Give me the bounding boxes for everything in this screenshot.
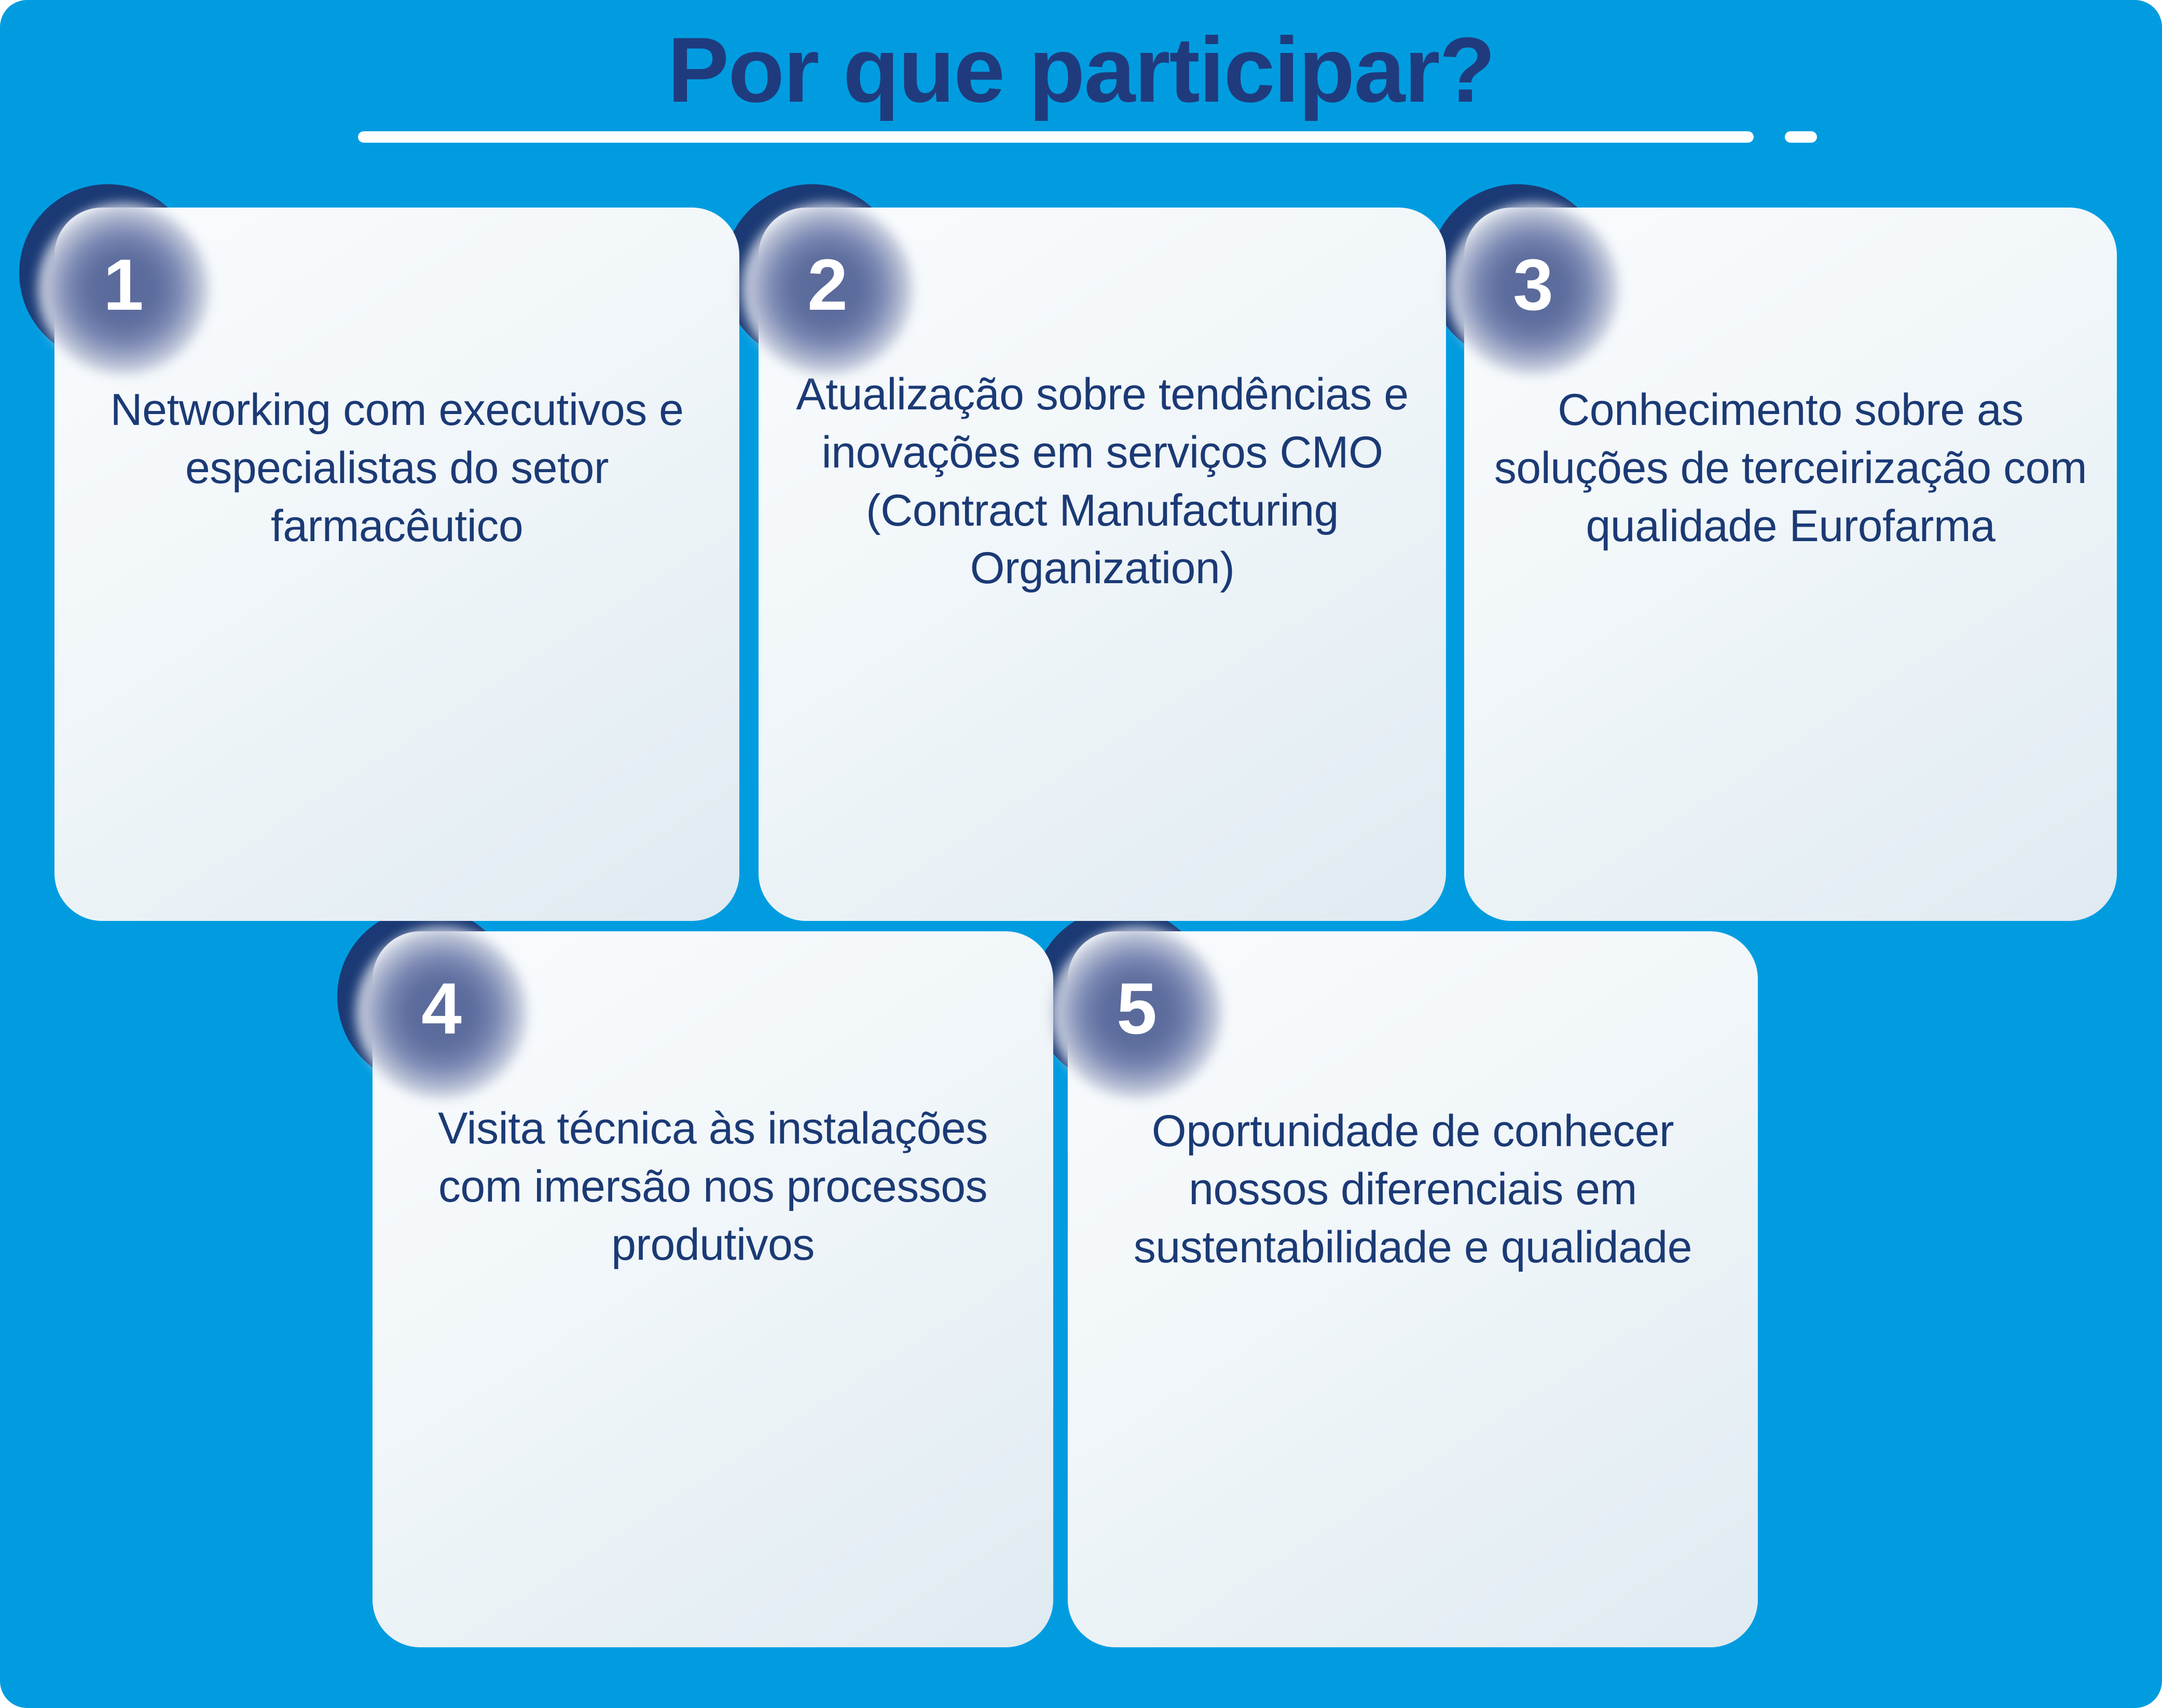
page-title: Por que participar? xyxy=(0,22,2162,119)
badge-number-5: 5 xyxy=(1051,927,1222,1098)
benefit-card-2[interactable]: 2 Atualização sobre tendências e inovaçõ… xyxy=(759,208,1446,921)
benefit-card-1[interactable]: 1 Networking com executivos e especialis… xyxy=(54,208,739,921)
header: Por que participar? xyxy=(0,0,2162,161)
benefit-text-3: Conhecimento sobre as soluções de tercei… xyxy=(1485,381,2096,555)
benefit-text-2: Atualização sobre tendências e inovações… xyxy=(779,366,1425,598)
benefit-card-5[interactable]: 5 Oportunidade de conhecer nossos difere… xyxy=(1068,931,1758,1647)
title-underline-dash xyxy=(1785,131,1817,143)
benefit-card-4[interactable]: 4 Visita técnica às instalações com imer… xyxy=(373,931,1053,1647)
benefit-text-5: Oportunidade de conhecer nossos diferenc… xyxy=(1089,1103,1737,1276)
benefit-text-1: Networking com executivos e especialista… xyxy=(75,381,719,555)
title-underline-rule xyxy=(358,131,1754,143)
badge-number-2: 2 xyxy=(742,203,913,375)
badge-number-1: 1 xyxy=(38,203,209,375)
badge-number-3: 3 xyxy=(1448,203,1619,375)
benefit-card-3[interactable]: 3 Conhecimento sobre as soluções de terc… xyxy=(1464,208,2117,921)
badge-number-4: 4 xyxy=(356,927,527,1098)
benefit-text-4: Visita técnica às instalações com imersã… xyxy=(393,1100,1032,1274)
infographic-panel: Por que participar? 1 Networking com exe… xyxy=(0,0,2162,1708)
